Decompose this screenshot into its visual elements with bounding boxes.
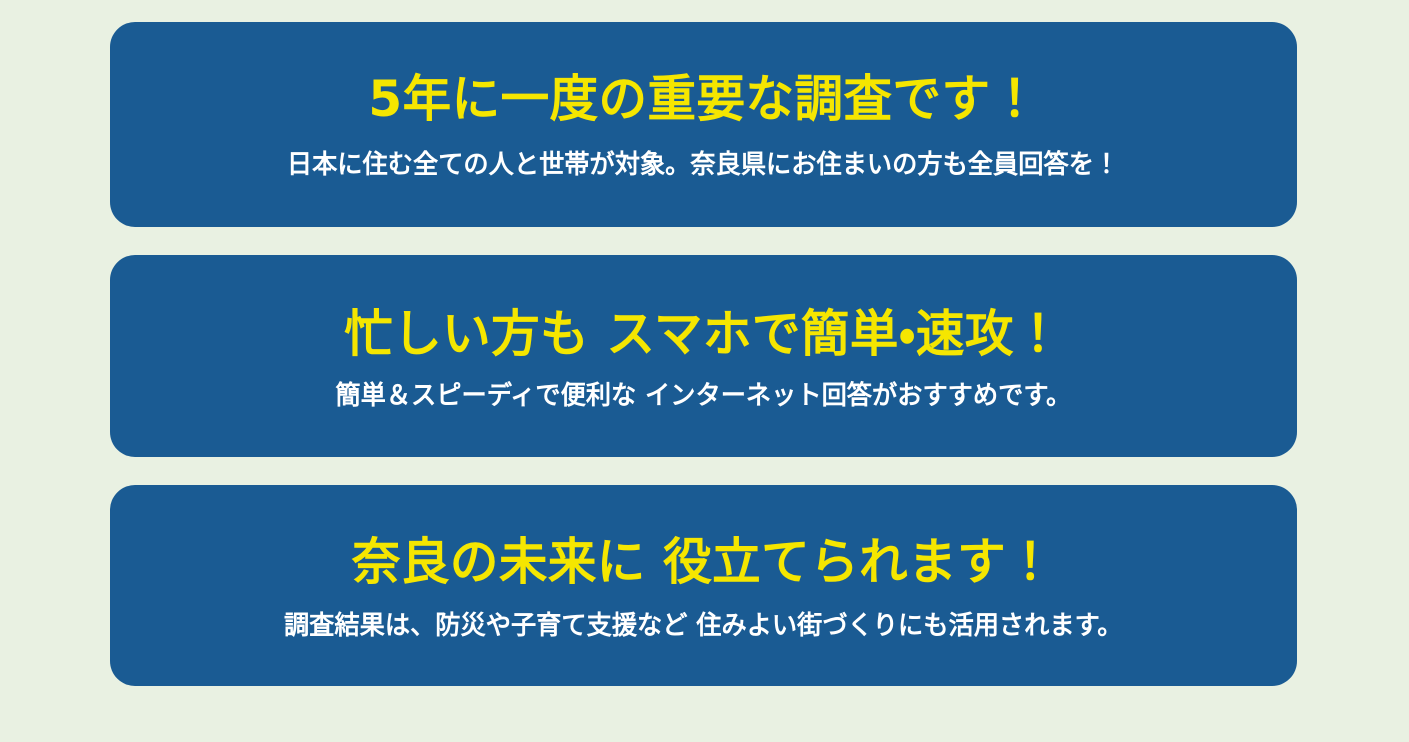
- card-heading: 5年に一度の重要な調査です！: [368, 73, 1039, 125]
- promo-card-board: 5年に一度の重要な調査です！ 日本に住む全ての人と世帯が対象。奈良県にお住まいの…: [0, 0, 1409, 742]
- card-subtitle: 日本に住む全ての人と世帯が対象。奈良県にお住まいの方も全員回答を！: [287, 151, 1119, 180]
- card-subtitle: 簡単＆スピーディで便利な インターネット回答がおすすめです。: [336, 382, 1072, 411]
- promo-card-smartphone: 忙しい方も スマホで簡単・速攻！ 簡単＆スピーディで便利な インターネット回答が…: [110, 255, 1297, 457]
- card-heading: 奈良の未来に 役立てられます！: [352, 536, 1055, 588]
- card-subtitle: 調査結果は、防災や子育て支援など 住みよい街づくりにも活用されます。: [284, 612, 1123, 641]
- card-heading: 忙しい方も スマホで簡単・速攻！: [344, 308, 1063, 360]
- promo-card-importance: 5年に一度の重要な調査です！ 日本に住む全ての人と世帯が対象。奈良県にお住まいの…: [110, 22, 1297, 227]
- promo-card-future: 奈良の未来に 役立てられます！ 調査結果は、防災や子育て支援など 住みよい街づく…: [110, 485, 1297, 686]
